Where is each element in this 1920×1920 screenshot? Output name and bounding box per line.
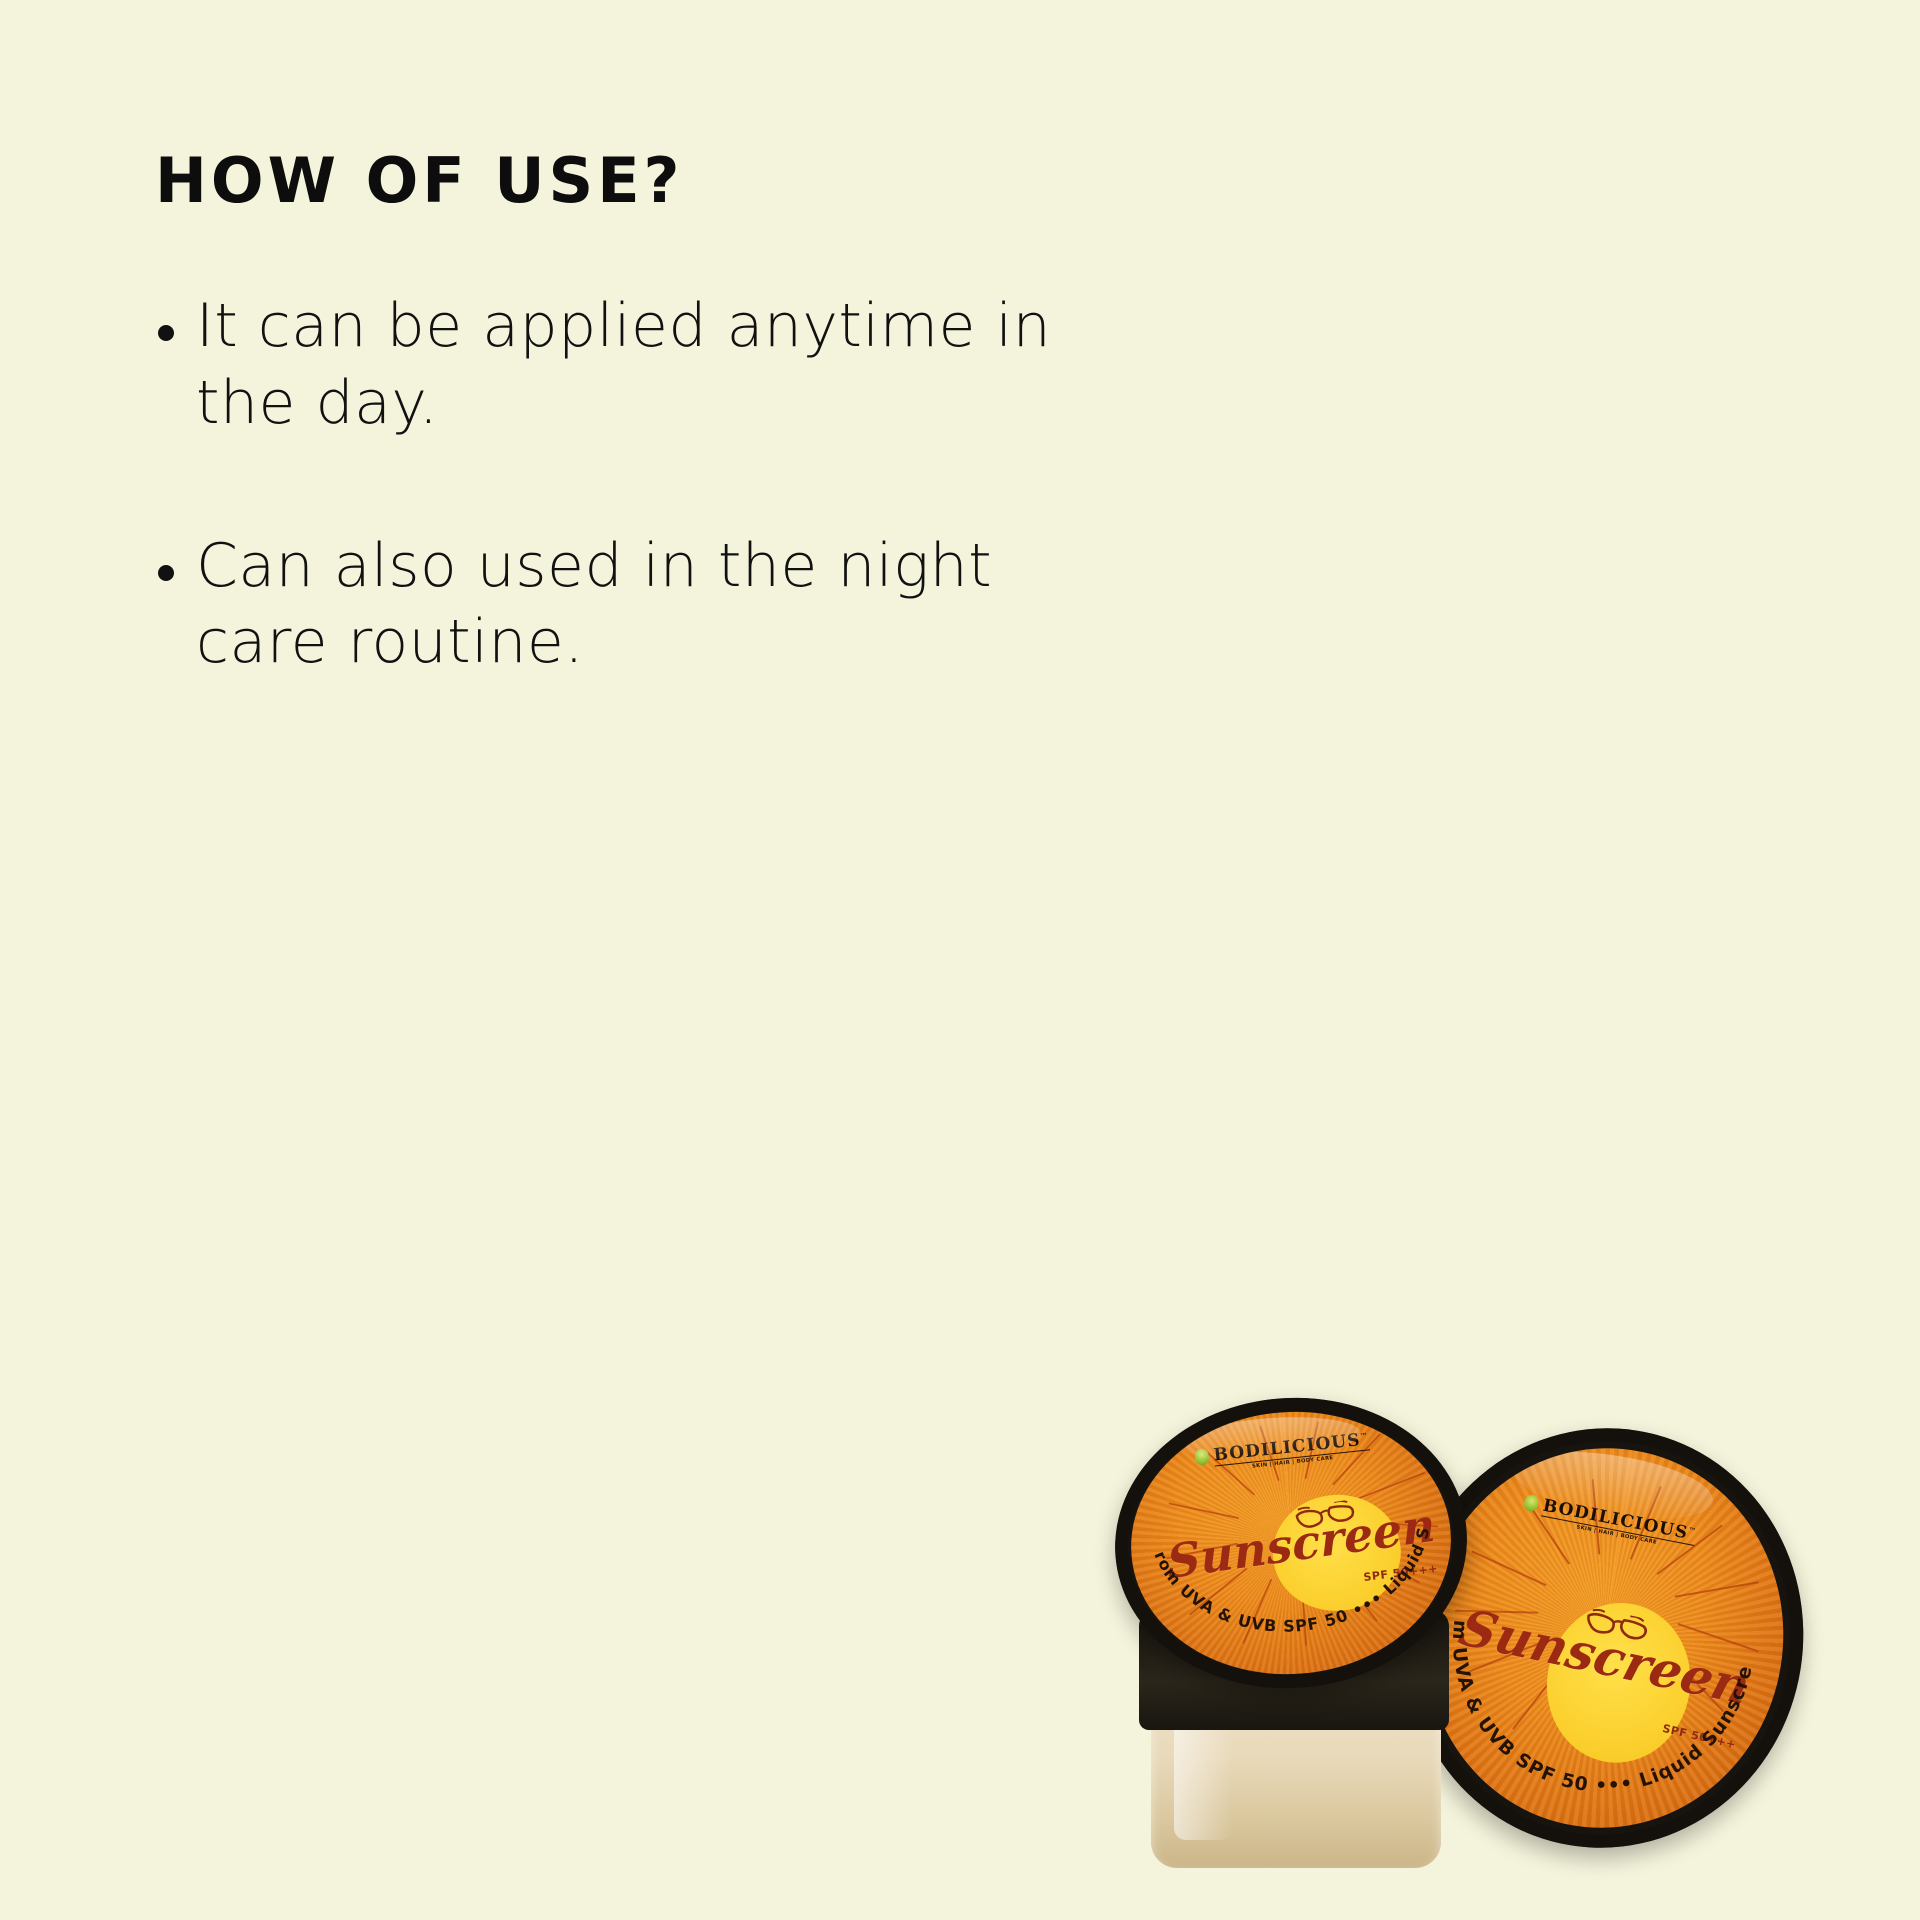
leaf-logo-icon xyxy=(1523,1494,1540,1512)
list-item-text: Can also used in the night care routine. xyxy=(196,528,1136,682)
bullet-list: It can be applied anytime in the day. Ca… xyxy=(158,288,1258,767)
product-image: BODILICIOUS™ SKIN | HAIR | BODY CARE Sun… xyxy=(1105,1370,1920,1920)
jar-lid: BODILICIOUS™ SKIN | HAIR | BODY CARE Sun… xyxy=(1105,1386,1476,1700)
list-item: It can be applied anytime in the day. xyxy=(158,288,1258,442)
bullet-dot-icon xyxy=(158,325,174,341)
list-item: Can also used in the night care routine. xyxy=(158,528,1258,682)
leaf-logo-icon xyxy=(1194,1448,1210,1465)
jar-label: BODILICIOUS™ SKIN | HAIR | BODY CARE Sun… xyxy=(1122,1401,1459,1685)
bullet-dot-icon xyxy=(158,565,174,581)
slide-canvas: HOW OF USE? It can be applied anytime in… xyxy=(0,0,1920,1920)
page-title: HOW OF USE? xyxy=(155,148,684,213)
trademark-symbol: ™ xyxy=(1360,1431,1369,1441)
product-jar-left: BODILICIOUS™ SKIN | HAIR | BODY CARE Sun… xyxy=(1115,1398,1475,1868)
list-item-text: It can be applied anytime in the day. xyxy=(196,288,1136,442)
trademark-symbol: ™ xyxy=(1688,1525,1698,1535)
